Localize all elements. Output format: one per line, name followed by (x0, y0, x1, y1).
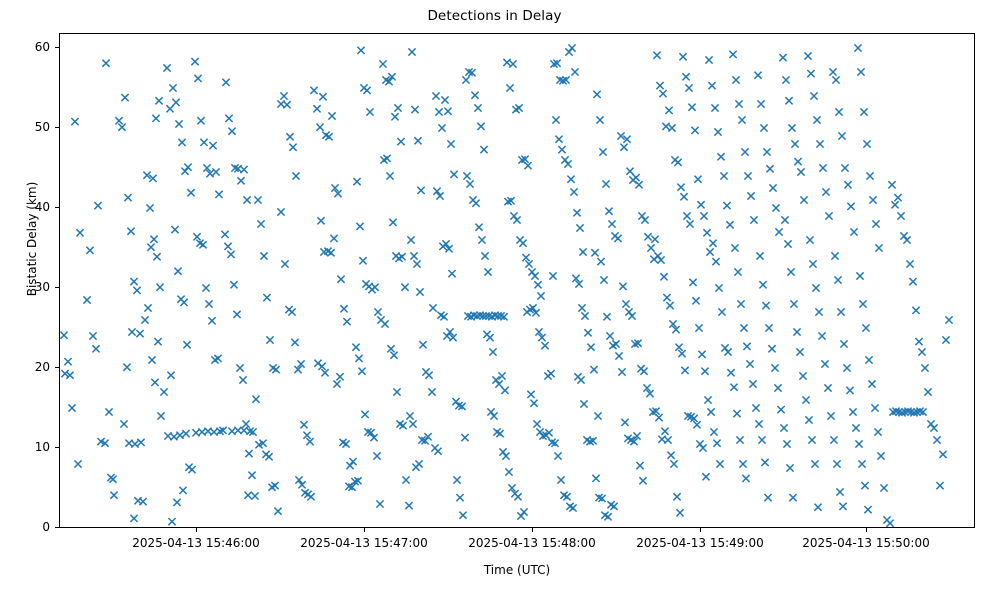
scatter-point (846, 387, 853, 394)
scatter-point (64, 358, 71, 365)
scatter-point (533, 420, 540, 427)
scatter-point (527, 391, 534, 398)
scatter-point (740, 324, 747, 331)
scatter-point (821, 360, 828, 367)
scatter-point (754, 72, 761, 79)
scatter-point (860, 108, 867, 115)
scatter-point (205, 300, 212, 307)
scatter-point (147, 244, 154, 251)
scatter-point (260, 252, 267, 259)
scatter-point (383, 155, 390, 162)
scatter-point (490, 412, 497, 419)
scatter-point (252, 396, 259, 403)
y-tick-label: 30 (0, 281, 50, 293)
scatter-point (837, 308, 844, 315)
scatter-point (811, 460, 818, 467)
scatter-point (644, 233, 651, 240)
scatter-point (144, 304, 151, 311)
scatter-point (921, 364, 928, 371)
scatter-point (809, 260, 816, 267)
scatter-point (573, 209, 580, 216)
scatter-point (271, 482, 278, 489)
scatter-point (340, 305, 347, 312)
scatter-point (342, 440, 349, 447)
x-tick-mark (196, 528, 197, 532)
scatter-point (371, 284, 378, 291)
scatter-point (394, 104, 401, 111)
scatter-point (489, 348, 496, 355)
scatter-point (747, 192, 754, 199)
scatter-point (771, 364, 778, 371)
scatter-point (76, 229, 83, 236)
scatter-point (505, 468, 512, 475)
scatter-point (406, 412, 413, 419)
scatter-point (131, 440, 138, 447)
scatter-point (120, 420, 127, 427)
scatter-point (871, 404, 878, 411)
scatter-point (563, 493, 570, 500)
scatter-point (769, 184, 776, 191)
scatter-point (447, 140, 454, 147)
scatter-point (711, 104, 718, 111)
scatter-point (859, 300, 866, 307)
scatter-point (660, 273, 667, 280)
x-tick-label: 2025-04-13 15:50:00 (756, 537, 976, 549)
scatter-point (824, 384, 831, 391)
scatter-point (750, 216, 757, 223)
scatter-point (152, 115, 159, 122)
scatter-point (74, 460, 81, 467)
scatter-point (434, 448, 441, 455)
x-tick-mark (866, 528, 867, 532)
scatter-point (912, 307, 919, 314)
scatter-point (438, 124, 445, 131)
scatter-point (618, 368, 625, 375)
scatter-point (903, 236, 910, 243)
scatter-point (477, 123, 484, 130)
scatter-point (861, 482, 868, 489)
scatter-point (777, 406, 784, 413)
marker-group (60, 44, 952, 526)
scatter-point (248, 472, 255, 479)
scatter-point (163, 64, 170, 71)
scatter-point (730, 384, 737, 391)
scatter-point (230, 281, 237, 288)
scatter-point (708, 82, 715, 89)
scatter-point (701, 368, 708, 375)
scatter-point (381, 320, 388, 327)
scatter-point (810, 92, 817, 99)
scatter-point (695, 324, 702, 331)
scatter-point (673, 493, 680, 500)
scatter-point (620, 144, 627, 151)
scatter-point (137, 439, 144, 446)
scatter-point (286, 133, 293, 140)
scatter-point (700, 212, 707, 219)
scatter-point (761, 459, 768, 466)
scatter-point (841, 164, 848, 171)
scatter-point (228, 128, 235, 135)
scatter-point (352, 344, 359, 351)
scatter-point (814, 504, 821, 511)
scatter-point (366, 108, 373, 115)
scatter-point (498, 372, 505, 379)
scatter-point (187, 189, 194, 196)
scatter-point (864, 506, 871, 513)
scatter-point (576, 224, 583, 231)
scatter-point (356, 223, 363, 230)
scatter-point (632, 174, 639, 181)
scatter-point (359, 257, 366, 264)
scatter-point (333, 380, 340, 387)
scatter-point (564, 160, 571, 167)
scatter-point (897, 212, 904, 219)
scatter-point (850, 228, 857, 235)
scatter-point (716, 460, 723, 467)
scatter-point (737, 300, 744, 307)
y-tick-label: 10 (0, 441, 50, 453)
scatter-point (855, 440, 862, 447)
scatter-point (441, 96, 448, 103)
y-axis-label: Bistatic Delay (km) (25, 0, 39, 489)
scatter-point (608, 220, 615, 227)
scatter-point (762, 302, 769, 309)
scatter-point (155, 97, 162, 104)
scatter-point (766, 165, 773, 172)
scatter-point (124, 194, 131, 201)
scatter-point (936, 482, 943, 489)
scatter-point (793, 328, 800, 335)
scatter-point (763, 148, 770, 155)
scatter-point (924, 388, 931, 395)
scatter-point (376, 500, 383, 507)
scatter-point (720, 172, 727, 179)
scatter-point (833, 460, 840, 467)
scatter-point (557, 476, 564, 483)
scatter-point (718, 308, 725, 315)
scatter-point (398, 253, 405, 260)
scatter-point (594, 412, 601, 419)
scatter-point (570, 188, 577, 195)
scatter-point (774, 384, 781, 391)
scatter-point (619, 283, 626, 290)
scatter-point (606, 332, 613, 339)
scatter-point (780, 424, 787, 431)
scatter-point (709, 240, 716, 247)
scatter-point (191, 58, 198, 65)
scatter-point (280, 92, 287, 99)
scatter-point (60, 332, 67, 339)
scatter-point (605, 208, 612, 215)
scatter-point (785, 97, 792, 104)
scatter-point (107, 474, 114, 481)
scatter-point (317, 217, 324, 224)
scatter-point (244, 492, 251, 499)
scatter-point (208, 317, 215, 324)
scatter-point (651, 236, 658, 243)
scatter-point (227, 251, 234, 258)
scatter-point (184, 164, 191, 171)
scatter-point (636, 462, 643, 469)
scatter-point (169, 84, 176, 91)
scatter-point (363, 87, 370, 94)
x-tick-mark (532, 528, 533, 532)
scatter-point (456, 494, 463, 501)
scatter-point (462, 76, 469, 83)
scatter-point (463, 172, 470, 179)
scatter-point (222, 79, 229, 86)
scatter-point (150, 236, 157, 243)
scatter-point (547, 370, 554, 377)
scatter-point (818, 332, 825, 339)
scatter-point (857, 68, 864, 75)
scatter-point (840, 340, 847, 347)
scatter-point (593, 91, 600, 98)
scatter-point (448, 270, 455, 277)
scatter-point (804, 52, 811, 59)
scatter-point (603, 313, 610, 320)
scatter-point (92, 345, 99, 352)
scatter-point (587, 344, 594, 351)
scatter-point (736, 436, 743, 443)
scatter-point (415, 460, 422, 467)
scatter-point (180, 299, 187, 306)
scatter-point (653, 52, 660, 59)
scatter-point (714, 128, 721, 135)
scatter-point (706, 248, 713, 255)
scatter-point (641, 216, 648, 223)
scatter-point (136, 330, 143, 337)
y-tick-label: 0 (0, 521, 50, 533)
scatter-point (86, 247, 93, 254)
scatter-point (621, 419, 628, 426)
scatter-point (783, 440, 790, 447)
scatter-point (411, 106, 418, 113)
scatter-point (272, 366, 279, 373)
scatter-point (735, 100, 742, 107)
scatter-point (417, 187, 424, 194)
scatter-point (791, 140, 798, 147)
scatter-point (537, 292, 544, 299)
scatter-point (799, 372, 806, 379)
scatter-point (89, 332, 96, 339)
scatter-point (872, 220, 879, 227)
scatter-point (765, 324, 772, 331)
scatter-point (355, 355, 362, 362)
scatter-point (906, 260, 913, 267)
scatter-point (674, 159, 681, 166)
scatter-point (141, 316, 148, 323)
scatter-point (886, 520, 893, 527)
scatter-point (854, 44, 861, 51)
scatter-point (640, 368, 647, 375)
scatter-point (732, 76, 739, 83)
scatter-point (530, 400, 537, 407)
scatter-point (580, 400, 587, 407)
scatter-point (830, 436, 837, 443)
scatter-point (336, 373, 343, 380)
scatter-point (764, 494, 771, 501)
scatter-point (408, 48, 415, 55)
scatter-point (199, 241, 206, 248)
x-axis-label: Time (UTC) (59, 563, 975, 577)
scatter-point (692, 297, 699, 304)
scatter-point (639, 477, 646, 484)
scatter-point (554, 452, 561, 459)
scatter-point (166, 105, 173, 112)
scatter-point (707, 408, 714, 415)
scatter-point (703, 229, 710, 236)
scatter-point (410, 252, 417, 259)
scatter-point (863, 140, 870, 147)
scatter-point (357, 47, 364, 54)
scatter-point (604, 513, 611, 520)
scatter-point (866, 172, 873, 179)
scatter-point (808, 436, 815, 443)
scatter-point (744, 172, 751, 179)
scatter-point (779, 54, 786, 61)
scatter-point (689, 279, 696, 286)
scatter-point (509, 60, 516, 67)
scatter-point (212, 168, 219, 175)
scatter-point (758, 436, 765, 443)
scatter-point (610, 503, 617, 510)
scatter-point (283, 101, 290, 108)
scatter-point (676, 509, 683, 516)
scatter-point (800, 196, 807, 203)
scatter-point (173, 499, 180, 506)
scatter-point (888, 181, 895, 188)
scatter-point (665, 107, 672, 114)
scatter-point (772, 204, 779, 211)
scatter-point (197, 117, 204, 124)
scatter-point (266, 336, 273, 343)
chart-title: Detections in Delay (0, 8, 989, 24)
scatter-point (710, 428, 717, 435)
scatter-point (472, 200, 479, 207)
scatter-point (877, 452, 884, 459)
scatter-point (397, 138, 404, 145)
scatter-point (657, 256, 664, 263)
scatter-point (413, 260, 420, 267)
scatter-point (495, 380, 502, 387)
scatter-point (486, 334, 493, 341)
scatter-point (157, 412, 164, 419)
scatter-point (796, 348, 803, 355)
scatter-point (128, 328, 135, 335)
scatter-point (756, 252, 763, 259)
scatter-point (704, 396, 711, 403)
scatter-point (662, 123, 669, 130)
scatter-point (71, 118, 78, 125)
scatter-point (724, 348, 731, 355)
scatter-point (236, 364, 243, 371)
scatter-point (894, 194, 901, 201)
x-tick-mark (364, 528, 365, 532)
scatter-point (519, 240, 526, 247)
scatter-point (313, 105, 320, 112)
scatter-point (349, 458, 356, 465)
scatter-point (319, 93, 326, 100)
scatter-point (743, 343, 750, 350)
scatter-point (918, 348, 925, 355)
scatter-point (172, 99, 179, 106)
y-tick-label: 20 (0, 361, 50, 373)
scatter-point (852, 424, 859, 431)
scatter-point (834, 276, 841, 283)
scatter-point (849, 408, 856, 415)
scatter-point (471, 92, 478, 99)
scatter-point (581, 312, 588, 319)
scatter-point (225, 115, 232, 122)
scatter-point (839, 503, 846, 510)
scatter-point (358, 368, 365, 375)
scatter-point (794, 158, 801, 165)
plot-area (59, 33, 975, 528)
scatter-point (731, 244, 738, 251)
scatter-point (237, 177, 244, 184)
scatter-point (663, 294, 670, 301)
scatter-point (567, 176, 574, 183)
scatter-point (402, 476, 409, 483)
scatter-point (843, 364, 850, 371)
scatter-point (274, 508, 281, 515)
scatter-point (734, 268, 741, 275)
scatter-point (659, 90, 666, 97)
scatter-point (130, 515, 137, 522)
scatter-point (515, 104, 522, 111)
scatter-point (635, 181, 642, 188)
scatter-point (552, 116, 559, 123)
scatter-point (698, 351, 705, 358)
scatter-point (174, 268, 181, 275)
scatter-point (599, 148, 606, 155)
scatter-point (933, 436, 940, 443)
scatter-point (752, 404, 759, 411)
scatter-point (121, 94, 128, 101)
scatter-point (865, 356, 872, 363)
scatter-point (549, 272, 556, 279)
scatter-point (733, 410, 740, 417)
scatter-point (760, 124, 767, 131)
scatter-point (819, 164, 826, 171)
scatter-point (432, 92, 439, 99)
scatter-point (277, 208, 284, 215)
scatter-point (880, 484, 887, 491)
scatter-point (807, 70, 814, 77)
scatter-point (307, 493, 314, 500)
scatter-point (429, 304, 436, 311)
scatter-point (102, 60, 109, 67)
scatter-point (945, 316, 952, 323)
scatter-point (681, 367, 688, 374)
scatter-point (571, 68, 578, 75)
scatter-point (874, 428, 881, 435)
scatter-point (440, 313, 447, 320)
scatter-point (686, 220, 693, 227)
scatter-point (534, 281, 541, 288)
scatter-point (475, 224, 482, 231)
scatter-point (484, 268, 491, 275)
scatter-point (790, 300, 797, 307)
scatter-point (615, 352, 622, 359)
scatter-point (628, 312, 635, 319)
scatter-point (428, 388, 435, 395)
scatter-point (330, 235, 337, 242)
scatter-point (133, 287, 140, 294)
scatter-point (453, 476, 460, 483)
scatter-point (739, 460, 746, 467)
